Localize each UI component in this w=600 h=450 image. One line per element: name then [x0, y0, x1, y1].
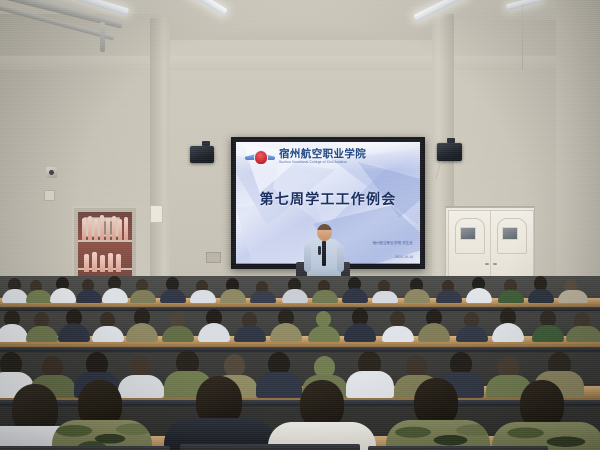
cabinet-item: [124, 217, 128, 240]
desk-seat-rail: [0, 347, 600, 352]
cabinet-item: [118, 219, 122, 240]
audience-torso: [558, 290, 588, 303]
audience-torso: [26, 326, 58, 342]
audience-torso: [492, 323, 524, 342]
wall-speaker-left: [190, 146, 214, 163]
presenter-necktie: [322, 241, 326, 266]
cabinet-item: [94, 219, 98, 240]
audience-torso: [532, 325, 564, 342]
cabinet-item: [106, 218, 110, 240]
audience-torso: [26, 290, 52, 303]
audience-torso: [270, 323, 302, 342]
audience-torso: [566, 326, 600, 342]
audience-torso: [76, 290, 102, 303]
audience-head-foreground: [414, 378, 458, 426]
audience-torso: [456, 326, 488, 342]
audience-head: [390, 311, 405, 327]
audience-torso: [344, 323, 376, 342]
audience-torso: [58, 323, 90, 342]
audience-torso: [130, 290, 156, 303]
audience-torso: [382, 326, 414, 342]
audience-torso: [418, 323, 450, 342]
presenter-head: [317, 224, 332, 241]
wall-speaker-right: [437, 143, 462, 161]
door-handle-right[interactable]: [493, 263, 497, 265]
handheld-microphone-icon: [318, 246, 321, 255]
lecture-hall-photo: 宿州航空职业学院 Suzhou Vocational College of Ci…: [0, 0, 600, 450]
slide-logo: 宿州航空职业学院 Suzhou Vocational College of Ci…: [245, 149, 366, 165]
door-window-right: [502, 227, 518, 240]
audience-torso: [282, 289, 308, 303]
audience-torso: [92, 326, 124, 342]
audience-torso: [436, 290, 462, 303]
audience-head-foreground: [300, 380, 344, 428]
audience-torso: [50, 288, 76, 303]
audience-head: [170, 311, 185, 327]
audience-torso: [498, 290, 524, 303]
audience-torso: [250, 291, 276, 303]
cabinet-item: [116, 254, 121, 272]
cabinet-item: [92, 252, 97, 272]
college-name-en: Suzhou Vocational College of Civil Aviat…: [279, 161, 366, 164]
cabinet-shelf-upper: [78, 240, 132, 242]
audience-seating-area: [0, 276, 600, 450]
audience-head: [224, 354, 245, 377]
presenter-arm-right: [337, 244, 344, 272]
winged-shield-emblem-icon: [245, 149, 275, 165]
audience-torso: [126, 323, 158, 342]
audience-torso: [312, 290, 338, 303]
slide-title: 第七周学工工作例会: [236, 189, 420, 209]
ceiling-surveillance-camera-icon: [46, 167, 57, 178]
audience-head-foreground: [520, 380, 564, 428]
audience-torso: [198, 323, 230, 342]
cabinet-item: [108, 253, 113, 272]
slide-logo-text: 宿州航空职业学院 Suzhou Vocational College of Ci…: [279, 149, 366, 164]
audience-torso: [234, 326, 266, 342]
auditorium-seat-back: [368, 446, 548, 450]
audience-torso: [404, 289, 430, 303]
audience-torso: [346, 371, 394, 398]
audience-torso: [372, 291, 398, 303]
audience-torso: [160, 289, 186, 303]
audience-torso: [190, 290, 216, 303]
cabinet-item: [88, 216, 92, 240]
ceiling-light-mount: [100, 22, 105, 52]
audience-torso: [342, 288, 368, 303]
audience-torso: [162, 326, 194, 342]
audience-torso: [118, 375, 164, 398]
audience-torso: [256, 372, 302, 398]
door-handle-left[interactable]: [485, 263, 489, 265]
cabinet-item: [112, 216, 116, 240]
auditorium-seat-back: [180, 444, 360, 450]
ceiling-soffit: [0, 56, 600, 70]
presenter-arm-left: [304, 244, 311, 272]
audience-torso: [308, 326, 340, 342]
slide-footer-org: 宿州航空职业学院 学生处: [372, 240, 413, 247]
wall-sign-small: [44, 190, 55, 201]
cabinet-item: [82, 218, 86, 240]
audience-head: [316, 311, 331, 327]
audience-torso: [0, 324, 28, 342]
cabinet-item: [100, 215, 104, 240]
cabinet-item: [84, 254, 89, 272]
audience-torso: [528, 289, 554, 303]
cabinet-item: [100, 255, 105, 272]
wall-switch-plate[interactable]: [206, 252, 221, 263]
audience-torso: [102, 288, 128, 303]
door-window-left: [460, 227, 476, 240]
wall-notice-sign: [150, 205, 163, 223]
audience-torso: [2, 289, 28, 303]
audience-torso: [220, 289, 246, 303]
audience-torso: [466, 288, 492, 303]
slide-footer-date: 2024.10.14: [395, 255, 413, 259]
emblem-shield-icon: [254, 150, 268, 165]
auditorium-seat-back: [0, 446, 170, 450]
college-name-cn: 宿州航空职业学院: [279, 149, 366, 160]
